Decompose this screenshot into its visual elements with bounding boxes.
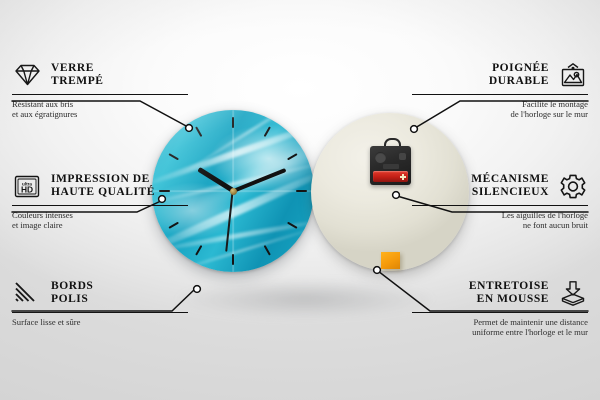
feature-title: MÉCANISME SILENCIEUX (471, 173, 549, 200)
feature-description: Surface lisse et sûre (12, 317, 188, 328)
feature-description: Permet de maintenir une distance uniform… (412, 317, 588, 338)
feature-header: ultra HD IMPRESSION DE HAUTE QUALITÉ (12, 169, 188, 203)
feature-impression-haute-qualite[interactable]: ultra HD IMPRESSION DE HAUTE QUALITÉ Cou… (12, 169, 188, 231)
hour-marker (233, 190, 314, 192)
feature-header: BORDS POLIS (12, 276, 188, 310)
feature-poignee-durable[interactable]: POIGNÉE DURABLE Facilite le montage de l… (412, 58, 588, 120)
battery (373, 171, 408, 182)
feature-divider (12, 94, 188, 95)
gear-icon (558, 171, 588, 201)
diamond-icon (12, 60, 42, 90)
feature-description: Les aiguilles de l'horloge ne font aucun… (412, 210, 588, 231)
mechanism-dial (375, 152, 386, 163)
feature-bords-polis[interactable]: BORDS POLIS Surface lisse et sûre (12, 276, 188, 327)
foam-spacer-icon (558, 278, 588, 308)
feature-description: Couleurs intenses et image claire (12, 210, 188, 231)
clock-hands-center-cap (230, 188, 237, 195)
infographic-canvas: VERRE TREMPÉ Résistant aux bris et aux é… (0, 0, 600, 400)
mechanism-label (383, 164, 399, 169)
mechanism-port (399, 153, 406, 160)
feature-header: VERRE TREMPÉ (12, 58, 188, 92)
feature-mecanisme-silencieux[interactable]: MÉCANISME SILENCIEUX Les aiguilles de l'… (412, 169, 588, 231)
feature-header: MÉCANISME SILENCIEUX (412, 169, 588, 203)
feature-title: POIGNÉE DURABLE (489, 62, 549, 89)
feature-title: ENTRETOISE EN MOUSSE (469, 280, 549, 307)
feature-title: BORDS POLIS (51, 280, 93, 307)
feature-divider (12, 205, 188, 206)
hanging-frame-icon (558, 60, 588, 90)
feature-divider (12, 312, 188, 313)
feature-title: IMPRESSION DE HAUTE QUALITÉ (51, 173, 155, 200)
connector-node-bords-polis (194, 286, 201, 293)
polished-edges-icon (12, 278, 42, 308)
feature-divider (412, 312, 588, 313)
ultra-hd-large-text: HD (21, 184, 33, 194)
ultra-hd-icon: ultra HD (12, 171, 42, 201)
feature-entretoise-en-mousse[interactable]: ENTRETOISE EN MOUSSE Permet de maintenir… (412, 276, 588, 338)
clock-mechanism (370, 146, 411, 185)
feature-header: POIGNÉE DURABLE (412, 58, 588, 92)
feature-description: Résistant aux bris et aux égratignures (12, 99, 188, 120)
feature-title: VERRE TREMPÉ (51, 62, 104, 89)
foam-spacer (381, 252, 400, 269)
feature-verre-trempe[interactable]: VERRE TREMPÉ Résistant aux bris et aux é… (12, 58, 188, 120)
hour-marker (232, 110, 234, 191)
feature-description: Facilite le montage de l'horloge sur le … (412, 99, 588, 120)
feature-divider (412, 94, 588, 95)
feature-header: ENTRETOISE EN MOUSSE (412, 276, 588, 310)
feature-divider (412, 205, 588, 206)
